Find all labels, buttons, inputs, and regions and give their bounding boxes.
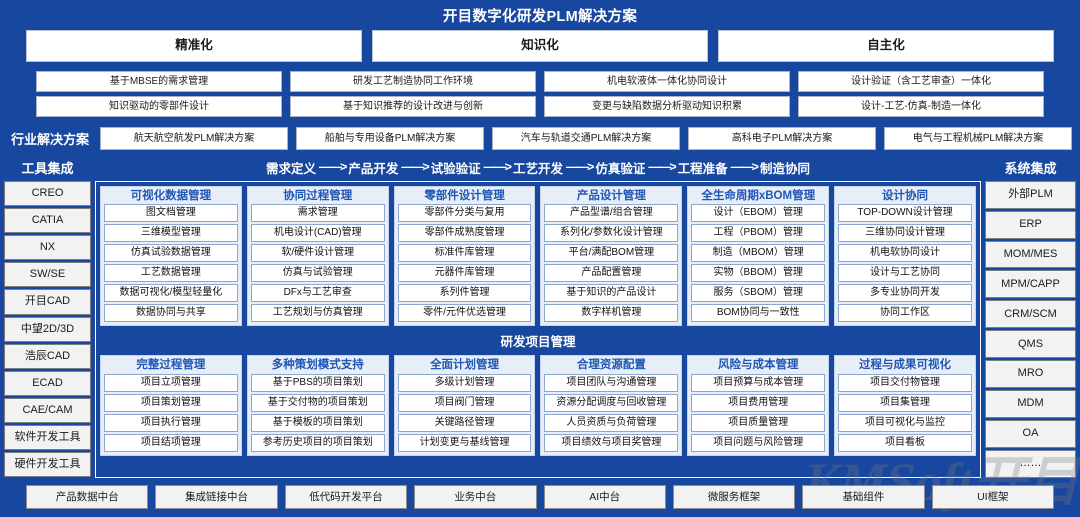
card-title: 多种策划模式支持: [251, 358, 385, 374]
card-item[interactable]: 机电设计(CAD)管理: [251, 224, 385, 242]
card-items: 图文档管理 三维模型管理 仿真试验数据管理 工艺数据管理 数据可视化/模型轻量化…: [104, 204, 238, 322]
card-item[interactable]: 项目预算与成本管理: [691, 374, 825, 392]
card-items: 基于PBS的项目策划 基于交付物的项目策划 基于模板的项目策划 参考历史项目的项…: [251, 374, 385, 452]
card-title: 设计协同: [838, 189, 972, 205]
card-item[interactable]: 基于知识的产品设计: [544, 284, 678, 302]
card-item[interactable]: 系列化/参数化设计管理: [544, 224, 678, 242]
capabilities-row-2: 知识驱动的零部件设计 基于知识推荐的设计改进与创新 变更与缺陷数据分析驱动知识积…: [0, 96, 1080, 117]
objective-pill[interactable]: 精准化: [26, 30, 362, 62]
card-item[interactable]: 项目问题与风险管理: [691, 434, 825, 452]
card-item[interactable]: 仿真试验数据管理: [104, 244, 238, 262]
card-item[interactable]: 零件/元件优选管理: [398, 304, 532, 322]
tool-integration-items: CREO CATIA NX SW/SE 开目CAD 中望2D/3D 浩辰CAD …: [4, 181, 91, 478]
center-column: 需求定义 ——> 产品开发 ——> 试验验证 ——> 工艺开发 ——> 仿真验证…: [95, 156, 981, 478]
platform-item[interactable]: 业务中台: [414, 485, 536, 510]
flow-arrow-icon: ——>: [565, 160, 593, 174]
card-item[interactable]: 机电软协同设计: [838, 244, 972, 262]
project-card-full-process: 完整过程管理 项目立项管理 项目策划管理 项目执行管理 项目结项管理: [100, 355, 242, 456]
capability-pill[interactable]: 设计验证（含工艺审查）一体化: [798, 71, 1044, 92]
system-item[interactable]: OA: [985, 420, 1076, 448]
page-title: 开目数字化研发PLM解决方案: [0, 0, 1080, 30]
capability-pill[interactable]: 设计-工艺-仿真-制造一体化: [798, 96, 1044, 117]
card-item[interactable]: 工艺规划与仿真管理: [251, 304, 385, 322]
card-item[interactable]: 基于交付物的项目策划: [251, 394, 385, 412]
system-item[interactable]: ERP: [985, 211, 1076, 239]
plm-capability-panel: 可视化数据管理 图文档管理 三维模型管理 仿真试验数据管理 工艺数据管理 数据可…: [95, 181, 981, 478]
tool-integration-column: 工具集成 CREO CATIA NX SW/SE 开目CAD 中望2D/3D 浩…: [4, 156, 91, 478]
card-items: TOP-DOWN设计管理 三维协同设计管理 机电软协同设计 设计与工艺协同 多专…: [838, 204, 972, 322]
card-item[interactable]: 数据协同与共享: [104, 304, 238, 322]
industry-solution-pill[interactable]: 电气与工程机械PLM解决方案: [884, 127, 1072, 150]
system-item[interactable]: MPM/CAPP: [985, 270, 1076, 298]
plm-solution-diagram: KMSoft开目 开目数字化研发PLM解决方案 精准化 知识化 自主化 基于MB…: [0, 0, 1080, 517]
card-item[interactable]: 协同工作区: [838, 304, 972, 322]
card-item[interactable]: 项目质量管理: [691, 414, 825, 432]
platform-item[interactable]: 低代码开发平台: [285, 485, 407, 510]
tool-integration-title: 工具集成: [4, 156, 91, 181]
capability-pill[interactable]: 知识驱动的零部件设计: [36, 96, 282, 117]
card-title: 产品设计管理: [544, 189, 678, 205]
card-title: 可视化数据管理: [104, 189, 238, 205]
card-title: 完整过程管理: [104, 358, 238, 374]
process-flow: 需求定义 ——> 产品开发 ——> 试验验证 ——> 工艺开发 ——> 仿真验证…: [95, 156, 981, 181]
card-item[interactable]: 人员资质与负荷管理: [544, 414, 678, 432]
card-item[interactable]: 软/硬件设计管理: [251, 244, 385, 262]
card-item[interactable]: 项目策划管理: [104, 394, 238, 412]
objectives-row: 精准化 知识化 自主化: [0, 30, 1080, 62]
plm-card-product-design: 产品设计管理 产品型谱/组合管理 系列化/参数化设计管理 平台/满配BOM管理 …: [540, 186, 682, 327]
card-title: 全面计划管理: [398, 358, 532, 374]
card-title: 协同过程管理: [251, 189, 385, 205]
capability-pill[interactable]: 基于MBSE的需求管理: [36, 71, 282, 92]
flow-step: 工艺开发: [512, 158, 564, 177]
card-items: 项目预算与成本管理 项目费用管理 项目质量管理 项目问题与风险管理: [691, 374, 825, 452]
system-item[interactable]: MRO: [985, 360, 1076, 388]
card-items: 需求管理 机电设计(CAD)管理 软/硬件设计管理 仿真与试验管理 DFx与工艺…: [251, 204, 385, 322]
card-item[interactable]: 基于PBS的项目策划: [251, 374, 385, 392]
system-integration-title: 系统集成: [985, 156, 1076, 181]
flow-arrow-icon: ——>: [318, 160, 346, 174]
flow-step: 试验验证: [430, 158, 482, 177]
card-item[interactable]: 项目交付物管理: [838, 374, 972, 392]
capability-pill[interactable]: 机电软液体一体化协同设计: [544, 71, 790, 92]
card-item[interactable]: 基于模板的项目策划: [251, 414, 385, 432]
platform-item[interactable]: 基础组件: [802, 485, 924, 510]
card-items: 设计（EBOM）管理 工程（PBOM）管理 制造（MBOM）管理 实物（BBOM…: [691, 204, 825, 322]
card-item[interactable]: 项目执行管理: [104, 414, 238, 432]
tool-item[interactable]: 开目CAD: [4, 289, 91, 314]
objective-pill[interactable]: 知识化: [372, 30, 708, 62]
card-items: 项目立项管理 项目策划管理 项目执行管理 项目结项管理: [104, 374, 238, 452]
card-item[interactable]: 设计（EBOM）管理: [691, 204, 825, 222]
tool-item[interactable]: NX: [4, 235, 91, 260]
industry-solution-pill[interactable]: 汽车与轨道交通PLM解决方案: [492, 127, 680, 150]
card-items: 项目交付物管理 项目集管理 项目可视化与监控 项目看板: [838, 374, 972, 452]
plm-card-design-collaboration: 设计协同 TOP-DOWN设计管理 三维协同设计管理 机电软协同设计 设计与工艺…: [834, 186, 976, 327]
capabilities-row-1: 基于MBSE的需求管理 研发工艺制造协同工作环境 机电软液体一体化协同设计 设计…: [0, 71, 1080, 92]
platform-item[interactable]: UI框架: [932, 485, 1054, 510]
card-title: 全生命周期xBOM管理: [691, 189, 825, 205]
tool-item[interactable]: ECAD: [4, 371, 91, 396]
project-card-comprehensive-plan: 全面计划管理 多级计划管理 项目阀门管理 关键路径管理 计划变更与基线管理: [394, 355, 536, 456]
card-item[interactable]: 零部件成熟度管理: [398, 224, 532, 242]
card-item[interactable]: 需求管理: [251, 204, 385, 222]
card-item[interactable]: 多级计划管理: [398, 374, 532, 392]
card-item[interactable]: 项目绩效与项目奖管理: [544, 434, 678, 452]
industry-solution-pill[interactable]: 船舶与专用设备PLM解决方案: [296, 127, 484, 150]
card-item[interactable]: 工程（PBOM）管理: [691, 224, 825, 242]
card-item[interactable]: 产品配置管理: [544, 264, 678, 282]
objective-pill[interactable]: 自主化: [718, 30, 1054, 62]
card-item[interactable]: 工艺数据管理: [104, 264, 238, 282]
card-title: 合理资源配置: [544, 358, 678, 374]
project-card-visualization: 过程与成果可视化 项目交付物管理 项目集管理 项目可视化与监控 项目看板: [834, 355, 976, 456]
project-management-banner: 研发项目管理: [100, 326, 976, 355]
body-columns: 工具集成 CREO CATIA NX SW/SE 开目CAD 中望2D/3D 浩…: [0, 156, 1080, 478]
project-card-grid: 完整过程管理 项目立项管理 项目策划管理 项目执行管理 项目结项管理 多种策划模…: [100, 355, 976, 456]
card-items: 多级计划管理 项目阀门管理 关键路径管理 计划变更与基线管理: [398, 374, 532, 452]
tool-item[interactable]: 硬件开发工具: [4, 452, 91, 477]
tool-item[interactable]: CAE/CAM: [4, 398, 91, 423]
card-item[interactable]: BOM协同与一致性: [691, 304, 825, 322]
plm-card-visual-data: 可视化数据管理 图文档管理 三维模型管理 仿真试验数据管理 工艺数据管理 数据可…: [100, 186, 242, 327]
card-item[interactable]: 项目费用管理: [691, 394, 825, 412]
system-integration-items: 外部PLM ERP MOM/MES MPM/CAPP CRM/SCM QMS M…: [985, 181, 1076, 478]
card-title: 过程与成果可视化: [838, 358, 972, 374]
card-item[interactable]: 计划变更与基线管理: [398, 434, 532, 452]
card-title: 风险与成本管理: [691, 358, 825, 374]
system-item[interactable]: ……: [985, 450, 1076, 478]
card-items: 零部件分类与复用 零部件成熟度管理 标准件库管理 元器件库管理 系列件管理 零件…: [398, 204, 532, 322]
card-item[interactable]: 数据可视化/模型轻量化: [104, 284, 238, 302]
flow-arrow-icon: ——>: [400, 160, 428, 174]
tool-item[interactable]: CATIA: [4, 208, 91, 233]
card-items: 产品型谱/组合管理 系列化/参数化设计管理 平台/满配BOM管理 产品配置管理 …: [544, 204, 678, 322]
flow-step: 需求定义: [265, 158, 317, 177]
platform-item[interactable]: AI中台: [544, 485, 666, 510]
industry-solutions-label: 行业解决方案: [8, 129, 92, 148]
card-item[interactable]: 图文档管理: [104, 204, 238, 222]
flow-step: 仿真验证: [594, 158, 646, 177]
card-item[interactable]: 项目集管理: [838, 394, 972, 412]
capability-pill[interactable]: 研发工艺制造协同工作环境: [290, 71, 536, 92]
flow-step: 工程准备: [677, 158, 729, 177]
card-item[interactable]: 项目结项管理: [104, 434, 238, 452]
industry-solutions-row: 行业解决方案 航天航空航发PLM解决方案 船舶与专用设备PLM解决方案 汽车与轨…: [0, 121, 1080, 156]
card-item[interactable]: 设计与工艺协同: [838, 264, 972, 282]
card-item[interactable]: 标准件库管理: [398, 244, 532, 262]
card-item[interactable]: 多专业协同开发: [838, 284, 972, 302]
platform-item[interactable]: 微服务框架: [673, 485, 795, 510]
card-item[interactable]: 项目立项管理: [104, 374, 238, 392]
card-title: 零部件设计管理: [398, 189, 532, 205]
project-card-risk-cost: 风险与成本管理 项目预算与成本管理 项目费用管理 项目质量管理 项目问题与风险管…: [687, 355, 829, 456]
card-item[interactable]: 零部件分类与复用: [398, 204, 532, 222]
card-item[interactable]: 服务（SBOM）管理: [691, 284, 825, 302]
system-item[interactable]: CRM/SCM: [985, 300, 1076, 328]
flow-step: 产品开发: [347, 158, 399, 177]
card-item[interactable]: 三维模型管理: [104, 224, 238, 242]
card-item[interactable]: 产品型谱/组合管理: [544, 204, 678, 222]
platform-item[interactable]: 集成链接中台: [155, 485, 277, 510]
card-item[interactable]: 实物（BBOM）管理: [691, 264, 825, 282]
card-item[interactable]: 仿真与试验管理: [251, 264, 385, 282]
card-items: 项目团队与沟通管理 资源分配调度与回收管理 人员资质与负荷管理 项目绩效与项目奖…: [544, 374, 678, 452]
card-item[interactable]: DFx与工艺审查: [251, 284, 385, 302]
card-item[interactable]: TOP-DOWN设计管理: [838, 204, 972, 222]
flow-arrow-icon: ——>: [730, 160, 758, 174]
system-item[interactable]: QMS: [985, 330, 1076, 358]
industry-solution-pill[interactable]: 航天航空航发PLM解决方案: [100, 127, 288, 150]
project-card-planning-modes: 多种策划模式支持 基于PBS的项目策划 基于交付物的项目策划 基于模板的项目策划…: [247, 355, 389, 456]
project-card-resource-allocation: 合理资源配置 项目团队与沟通管理 资源分配调度与回收管理 人员资质与负荷管理 项…: [540, 355, 682, 456]
system-integration-column: 系统集成 外部PLM ERP MOM/MES MPM/CAPP CRM/SCM …: [985, 156, 1076, 478]
card-item[interactable]: 资源分配调度与回收管理: [544, 394, 678, 412]
tool-item[interactable]: 中望2D/3D: [4, 317, 91, 342]
card-item[interactable]: 平台/满配BOM管理: [544, 244, 678, 262]
capability-pill[interactable]: 基于知识推荐的设计改进与创新: [290, 96, 536, 117]
tool-item[interactable]: 软件开发工具: [4, 425, 91, 450]
tool-item[interactable]: SW/SE: [4, 262, 91, 287]
card-item[interactable]: 系列件管理: [398, 284, 532, 302]
plm-card-collaborative-process: 协同过程管理 需求管理 机电设计(CAD)管理 软/硬件设计管理 仿真与试验管理…: [247, 186, 389, 327]
card-item[interactable]: 项目看板: [838, 434, 972, 452]
industry-solution-pill[interactable]: 高科电子PLM解决方案: [688, 127, 876, 150]
flow-arrow-icon: ——>: [483, 160, 511, 174]
card-item[interactable]: 参考历史项目的项目策划: [251, 434, 385, 452]
card-item[interactable]: 项目阀门管理: [398, 394, 532, 412]
card-item[interactable]: 数字样机管理: [544, 304, 678, 322]
platform-item[interactable]: 产品数据中台: [26, 485, 148, 510]
platform-row: 产品数据中台 集成链接中台 低代码开发平台 业务中台 AI中台 微服务框架 基础…: [0, 478, 1080, 517]
card-item[interactable]: 项目团队与沟通管理: [544, 374, 678, 392]
system-item[interactable]: MOM/MES: [985, 241, 1076, 269]
system-item[interactable]: MDM: [985, 390, 1076, 418]
flow-arrow-icon: ——>: [647, 160, 675, 174]
capability-pill[interactable]: 变更与缺陷数据分析驱动知识积累: [544, 96, 790, 117]
plm-card-xbom: 全生命周期xBOM管理 设计（EBOM）管理 工程（PBOM）管理 制造（MBO…: [687, 186, 829, 327]
card-item[interactable]: 关键路径管理: [398, 414, 532, 432]
card-item[interactable]: 三维协同设计管理: [838, 224, 972, 242]
flow-step: 制造协同: [759, 158, 811, 177]
card-item[interactable]: 制造（MBOM）管理: [691, 244, 825, 262]
system-item[interactable]: 外部PLM: [985, 181, 1076, 209]
tool-item[interactable]: 浩辰CAD: [4, 344, 91, 369]
tool-item[interactable]: CREO: [4, 181, 91, 206]
card-item[interactable]: 项目可视化与监控: [838, 414, 972, 432]
plm-card-grid: 可视化数据管理 图文档管理 三维模型管理 仿真试验数据管理 工艺数据管理 数据可…: [100, 186, 976, 327]
plm-card-part-design: 零部件设计管理 零部件分类与复用 零部件成熟度管理 标准件库管理 元器件库管理 …: [394, 186, 536, 327]
card-item[interactable]: 元器件库管理: [398, 264, 532, 282]
